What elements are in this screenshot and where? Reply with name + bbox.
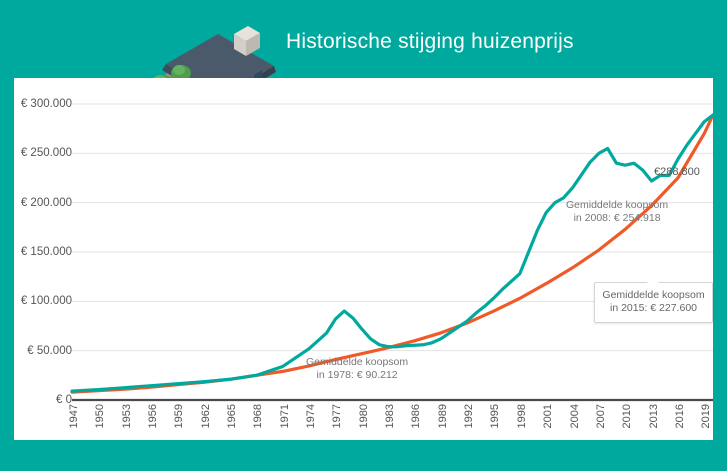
x-axis-tick-label: 1974	[305, 404, 317, 428]
x-axis-tick-label: 2019	[700, 404, 712, 428]
y-axis-tick-label: € 50.000	[27, 345, 72, 357]
page-title: Historische stijging huizenprijs	[286, 30, 574, 54]
chart-page: Historische stijging huizenprijs	[0, 0, 727, 471]
tooltip-line1: Gemiddelde koopsom	[601, 289, 706, 302]
x-axis-tick-label: 1968	[252, 404, 264, 428]
x-axis-tick-label: 2016	[674, 404, 686, 428]
x-axis-tick-label: 1980	[358, 404, 370, 428]
x-axis-tick-label: 1983	[384, 404, 396, 428]
x-axis-tick-label: 1959	[173, 404, 185, 428]
x-axis-tick-label: 1971	[279, 404, 291, 428]
y-axis-tick-label: € 100.000	[21, 295, 72, 307]
annotation-1978-line2: in 1978: € 90.212	[306, 369, 408, 382]
x-axis-tick-label: 1965	[226, 404, 238, 428]
x-axis-tick-label: 1986	[410, 404, 422, 428]
series-line-werkelijke-prijs	[72, 115, 713, 391]
x-axis-tick-label: 2007	[595, 404, 607, 428]
x-axis-tick-label: 1998	[516, 404, 528, 428]
x-axis-tick-label: 1953	[121, 404, 133, 428]
x-axis-tick-label: 1977	[331, 404, 343, 428]
tooltip-line2: in 2015: € 227.600	[601, 302, 706, 315]
annotation-total-value: €288.800	[654, 166, 700, 178]
y-axis-tick-label: € 200.000	[21, 197, 72, 209]
y-axis-labels: € 0€ 50.000€ 100.000€ 150.000€ 200.000€ …	[0, 78, 72, 440]
x-axis-tick-label: 2004	[569, 404, 581, 428]
y-axis-tick-label: € 300.000	[21, 98, 72, 110]
annotation-1978-line1: Gemiddelde koopsom	[306, 356, 408, 369]
annotation-2008-line2: in 2008: € 254.918	[566, 212, 668, 225]
x-axis-tick-label: 1950	[94, 404, 106, 428]
annotation-1978: Gemiddelde koopsom in 1978: € 90.212	[306, 356, 408, 382]
x-axis-tick-label: 2010	[621, 404, 633, 428]
annotation-2008: Gemiddelde koopsom in 2008: € 254.918	[566, 199, 668, 225]
y-axis-tick-label: € 150.000	[21, 246, 72, 258]
x-axis-tick-label: 1956	[147, 404, 159, 428]
chart-plot-area	[14, 78, 713, 440]
x-axis-tick-label: 1962	[200, 404, 212, 428]
annotation-tooltip-2015[interactable]: Gemiddelde koopsom in 2015: € 227.600	[594, 282, 713, 323]
x-axis-tick-label: 2013	[648, 404, 660, 428]
chart-panel: Gemiddelde koopsom in 1978: € 90.212 Gem…	[14, 78, 713, 440]
x-axis-tick-label: 1947	[68, 404, 80, 428]
y-axis-tick-label: € 250.000	[21, 147, 72, 159]
x-axis-labels: 1947195019531956195919621965196819711974…	[14, 404, 713, 450]
x-axis-tick-label: 2001	[542, 404, 554, 428]
x-axis-tick-label: 1992	[463, 404, 475, 428]
x-axis-tick-label: 1989	[437, 404, 449, 428]
x-axis-tick-label: 1995	[489, 404, 501, 428]
annotation-2008-line1: Gemiddelde koopsom	[566, 199, 668, 212]
